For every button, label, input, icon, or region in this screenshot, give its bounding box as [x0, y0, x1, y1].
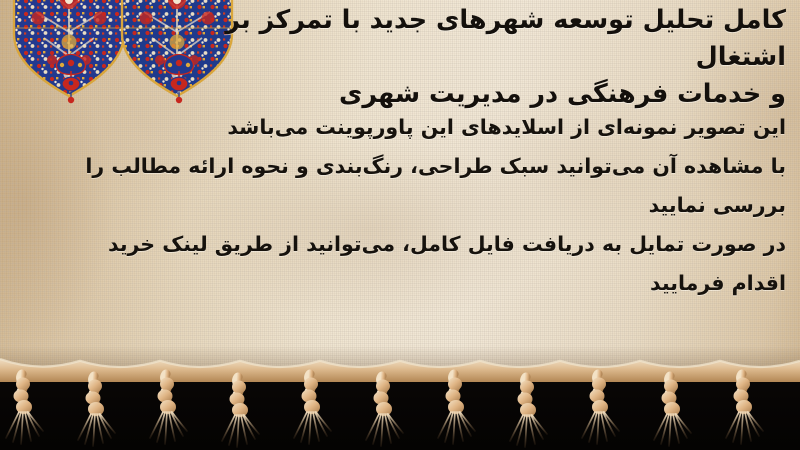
fringe-tassels — [0, 352, 800, 450]
slide-title: کامل تحلیل توسعه شهرهای جدید با تمرکز بر… — [186, 2, 786, 113]
presentation-slide: کامل تحلیل توسعه شهرهای جدید با تمرکز بر… — [0, 0, 800, 450]
body-line-1: این تصویر نمونه‌ای از اسلایدهای این پاور… — [14, 108, 786, 147]
carpet-fringe — [0, 352, 800, 450]
slide-text-layer: کامل تحلیل توسعه شهرهای جدید با تمرکز بر… — [0, 0, 800, 372]
body-line-2: با مشاهده آن می‌توانید سبک طراحی، رنگ‌بن… — [14, 147, 786, 225]
body-line-3: در صورت تمایل به دریافت فایل کامل، می‌تو… — [14, 225, 786, 303]
slide-body: این تصویر نمونه‌ای از اسلایدهای این پاور… — [14, 108, 786, 303]
title-line-1: کامل تحلیل توسعه شهرهای جدید با تمرکز بر… — [225, 5, 786, 72]
